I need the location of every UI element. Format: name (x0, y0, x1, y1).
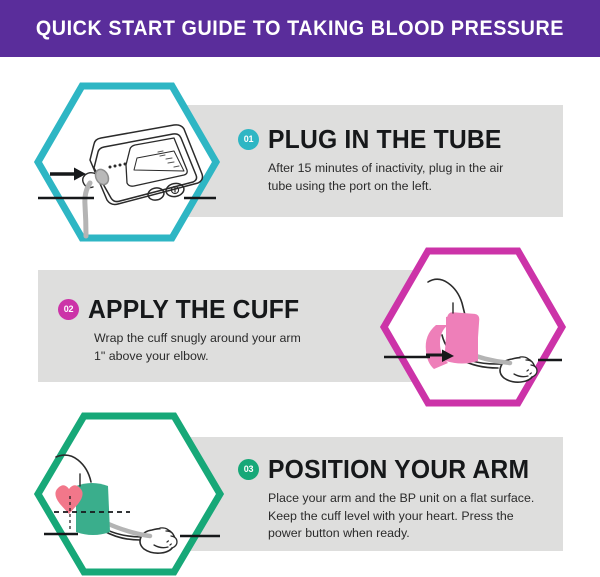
step-1-text-block: 01 PLUG IN THE TUBE After 15 minutes of … (238, 126, 514, 195)
step-2-body: Wrap the cuff snugly around your arm 1" … (94, 330, 310, 365)
step-1-body: After 15 minutes of inactivity, plug in … (268, 160, 514, 195)
step-3-body: Place your arm and the BP unit on a flat… (268, 490, 543, 543)
step-3-illustration (34, 412, 224, 577)
page-title: QUICK START GUIDE TO TAKING BLOOD PRESSU… (36, 17, 564, 41)
step-1-title-row: 01 PLUG IN THE TUBE (238, 126, 514, 152)
step-3-number-badge: 03 (238, 459, 259, 480)
header-bar: QUICK START GUIDE TO TAKING BLOOD PRESSU… (0, 0, 600, 57)
step-3-title: POSITION YOUR ARM (268, 456, 529, 482)
step-2-illustration (380, 247, 566, 407)
step-2-text-block: 02 APPLY THE CUFF Wrap the cuff snugly a… (58, 296, 310, 365)
step-3-title-row: 03 POSITION YOUR ARM (238, 456, 543, 482)
step-3-text-block: 03 POSITION YOUR ARM Place your arm and … (238, 456, 543, 543)
step-1-title: PLUG IN THE TUBE (268, 126, 502, 152)
step-2-number-badge: 02 (58, 299, 79, 320)
step-2-title-row: 02 APPLY THE CUFF (58, 296, 310, 322)
step-1-number-badge: 01 (238, 129, 259, 150)
step-1-illustration (34, 82, 220, 242)
step-2-title: APPLY THE CUFF (88, 296, 299, 322)
